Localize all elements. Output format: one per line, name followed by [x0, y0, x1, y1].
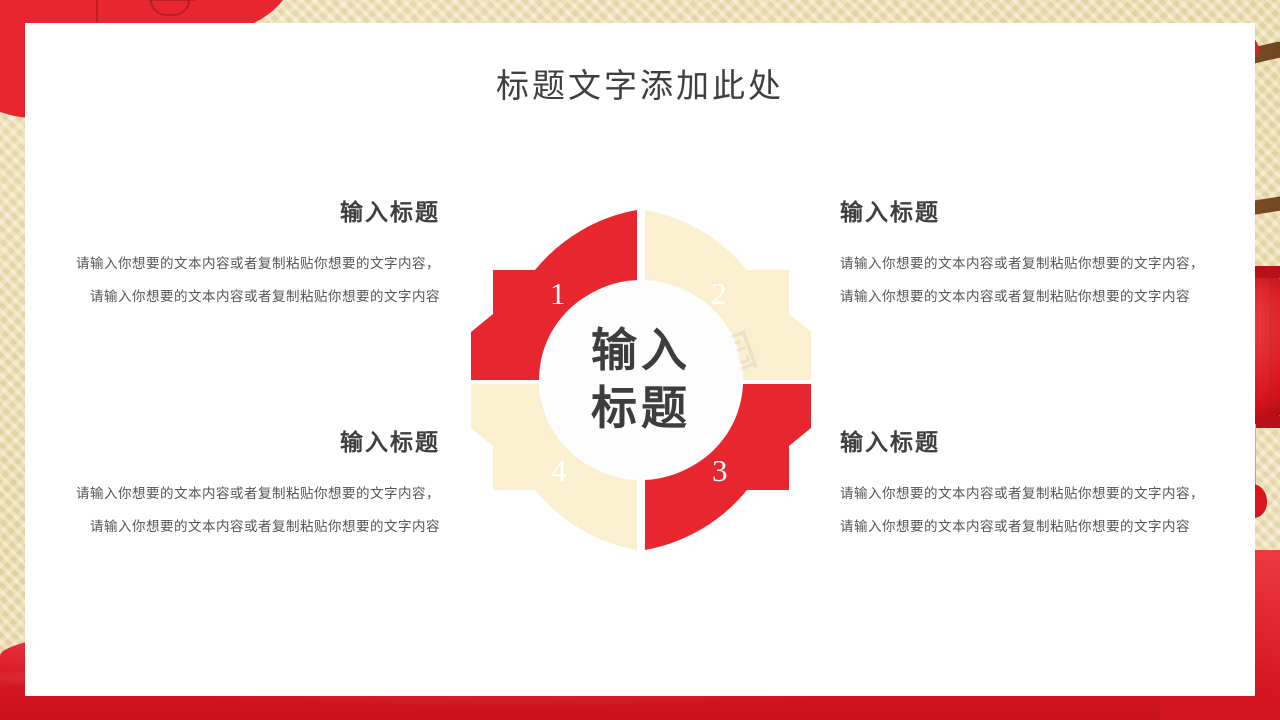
text-block-heading: 输入标题 — [840, 193, 1215, 227]
text-block-heading: 输入标题 — [840, 423, 1215, 457]
text-block-bottom-left[interactable]: 输入标题 请输入你想要的文本内容或者复制粘贴你想要的文字内容，请输入你想要的文本… — [65, 423, 440, 543]
donut-number-3: 3 — [712, 453, 728, 489]
text-block-bottom-right[interactable]: 输入标题 请输入你想要的文本内容或者复制粘贴你想要的文字内容，请输入你想要的文本… — [840, 423, 1215, 543]
content-card: 标题文字添加此处 输入标题 请输入你想要的文本内容或者复制粘贴你想要的文字内容，… — [25, 23, 1255, 696]
donut-number-1: 1 — [550, 276, 566, 312]
text-block-body: 请输入你想要的文本内容或者复制粘贴你想要的文字内容，请输入你想要的文本内容或者复… — [65, 477, 440, 543]
donut-number-2: 2 — [711, 276, 727, 312]
text-block-body: 请输入你想要的文本内容或者复制粘贴你想要的文字内容，请输入你想要的文本内容或者复… — [840, 247, 1215, 313]
text-block-top-left[interactable]: 输入标题 请输入你想要的文本内容或者复制粘贴你想要的文字内容，请输入你想要的文本… — [65, 193, 440, 313]
text-block-top-right[interactable]: 输入标题 请输入你想要的文本内容或者复制粘贴你想要的文字内容，请输入你想要的文本… — [840, 193, 1215, 313]
lantern-pole-icon — [96, 0, 98, 22]
donut-diagram: PPT演示园 输入 标题 1 2 3 4 — [471, 210, 811, 550]
slide-canvas: 标题文字添加此处 输入标题 请输入你想要的文本内容或者复制粘贴你想要的文字内容，… — [0, 0, 1280, 720]
donut-number-4: 4 — [551, 453, 567, 489]
donut-center-line-1: 输入 — [591, 322, 691, 380]
donut-center-line-2: 标题 — [591, 380, 691, 438]
text-block-body: 请输入你想要的文本内容或者复制粘贴你想要的文字内容，请输入你想要的文本内容或者复… — [65, 247, 440, 313]
page-title: 标题文字添加此处 — [25, 59, 1255, 107]
text-block-heading: 输入标题 — [65, 423, 440, 457]
text-block-heading: 输入标题 — [65, 193, 440, 227]
text-block-body: 请输入你想要的文本内容或者复制粘贴你想要的文字内容，请输入你想要的文本内容或者复… — [840, 477, 1215, 543]
